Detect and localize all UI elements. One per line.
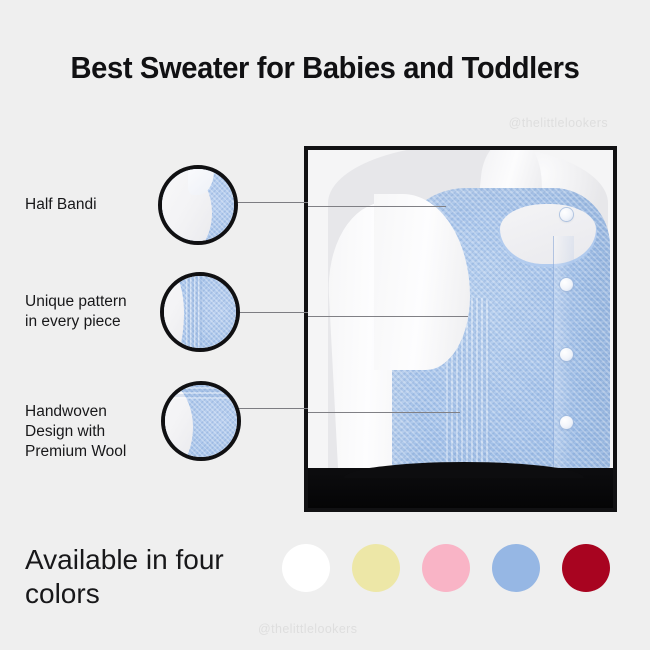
page-title: Best Sweater for Babies and Toddlers [20, 50, 631, 86]
bubble-image-3 [161, 381, 241, 461]
bubble-image-2 [160, 272, 240, 352]
sweater-button [560, 208, 573, 221]
feature-label-half-bandi: Half Bandi [25, 195, 97, 215]
callout-line-2-inner [308, 316, 468, 317]
watermark-top: @thelittlelookers [509, 116, 608, 130]
detail-bubble-pattern [160, 272, 240, 352]
infographic-canvas: Best Sweater for Babies and Toddlers @th… [0, 0, 650, 650]
rib-stitch [186, 272, 202, 352]
feature-label-handwoven: Handwoven Design with Premium Wool [25, 402, 126, 462]
callout-line-3-inner [308, 412, 460, 413]
weave-ridge [161, 381, 241, 399]
sweater-neckline [500, 204, 596, 264]
color-swatch-light-blue[interactable] [492, 544, 540, 592]
sweater-body [392, 188, 610, 478]
feature-label-unique-pattern: Unique pattern in every piece [25, 292, 127, 332]
color-swatch-crimson-red[interactable] [562, 544, 610, 592]
product-photo-frame [304, 146, 617, 512]
watermark-bottom: @thelittlelookers [258, 622, 357, 636]
mannequin-base [308, 468, 613, 508]
detail-bubble-shoulder [158, 165, 238, 245]
callout-line-1-inner [308, 206, 446, 207]
sweater-button [560, 278, 573, 291]
color-swatch-white[interactable] [282, 544, 330, 592]
color-swatch-pale-yellow[interactable] [352, 544, 400, 592]
detail-bubble-weave [161, 381, 241, 461]
product-photo [308, 150, 613, 508]
color-swatch-row [282, 544, 610, 592]
color-swatch-pink[interactable] [422, 544, 470, 592]
bubble-image-1 [158, 165, 238, 245]
colors-heading: Available in four colors [25, 543, 275, 611]
sweater-button [560, 416, 573, 429]
sweater-button [560, 348, 573, 361]
